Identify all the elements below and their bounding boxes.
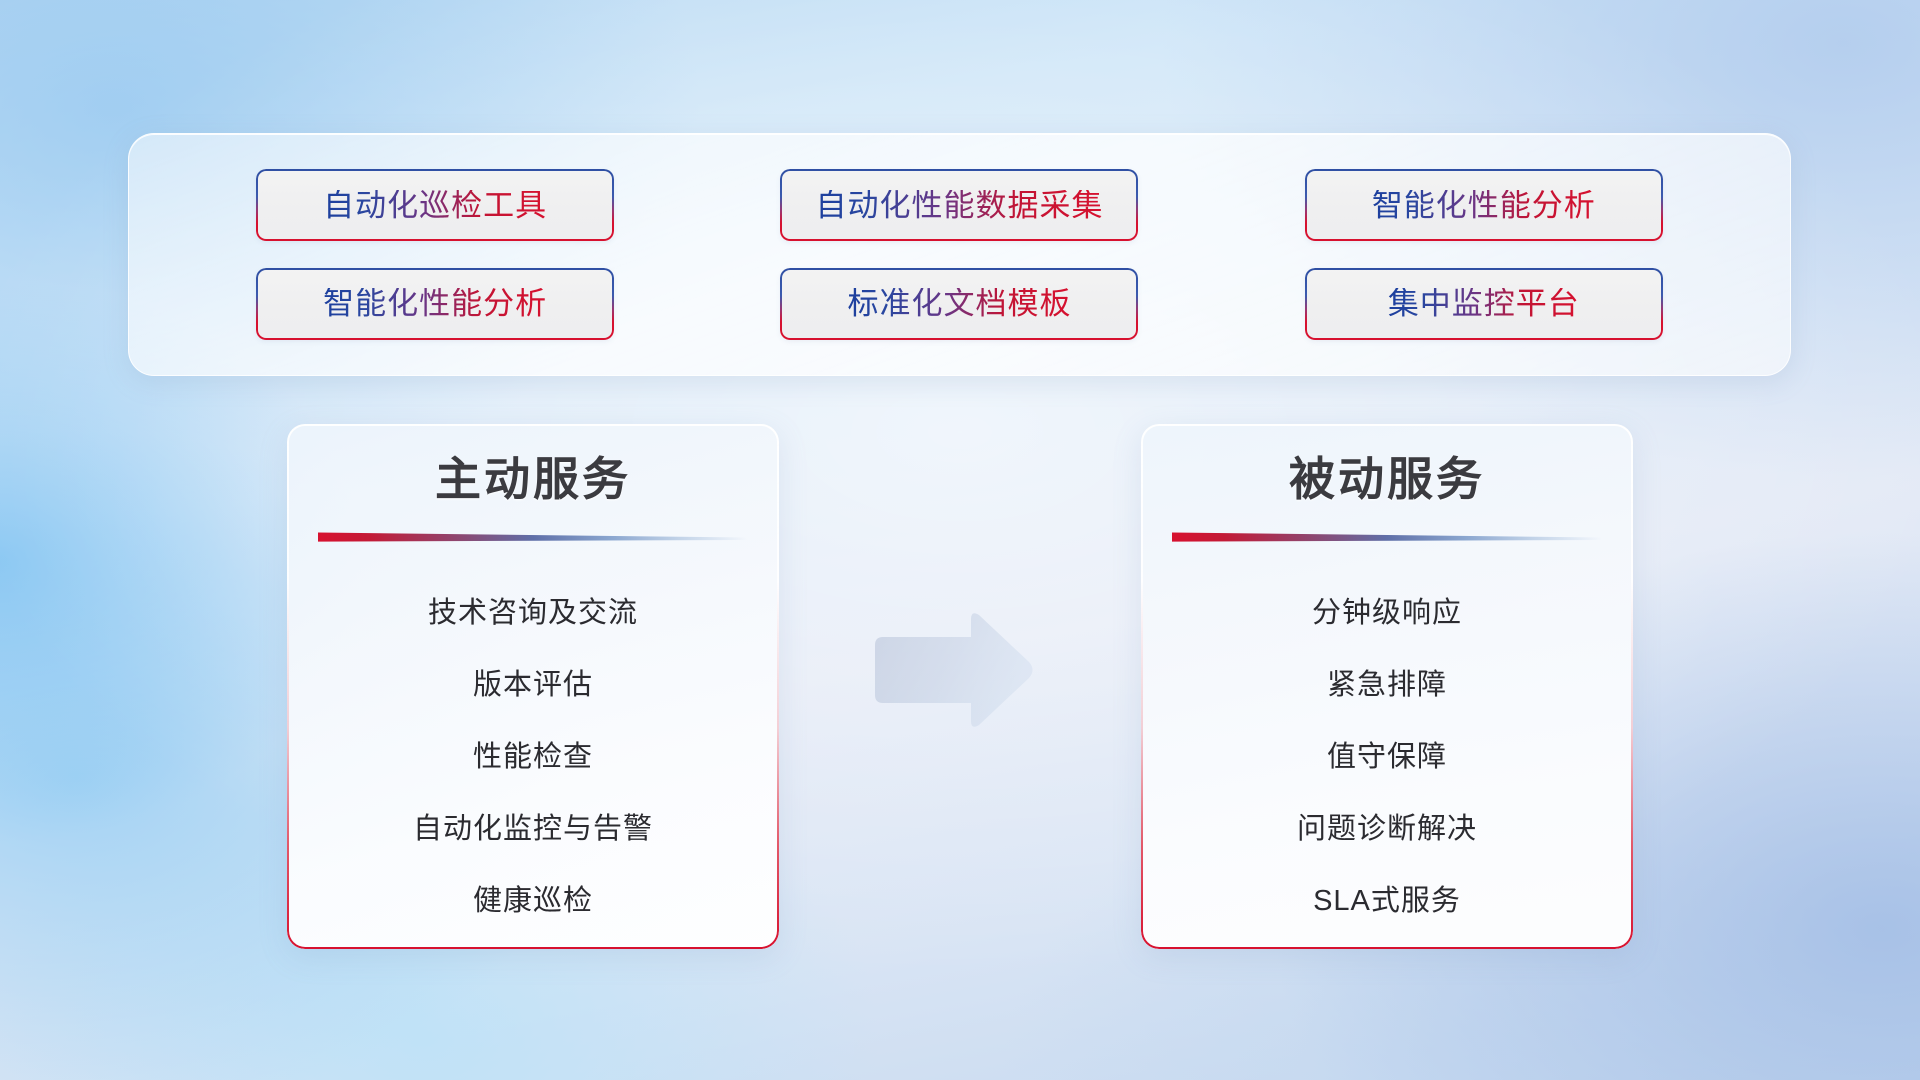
- capability-tag-2[interactable]: 自动化性能数据采集: [780, 169, 1138, 241]
- title-divider: [1172, 531, 1602, 543]
- capability-tag-4[interactable]: 智能化性能分析: [256, 268, 614, 340]
- service-card-proactive[interactable]: 主动服务 技术咨询及交流 版本评估 性能检查 自动化监控与告警 健康巡检: [287, 424, 779, 949]
- capability-tag-label: 标准化文档模板: [847, 288, 1071, 319]
- service-list-item: 技术咨询及交流: [428, 577, 638, 649]
- capability-tag-label: 智能化性能分析: [1372, 190, 1596, 221]
- service-list-item: 分钟级响应: [1312, 577, 1462, 649]
- service-item-list: 技术咨询及交流 版本评估 性能检查 自动化监控与告警 健康巡检: [287, 577, 779, 937]
- capability-tag-6[interactable]: 集中监控平台: [1305, 268, 1663, 340]
- capability-tag-label: 自动化巡检工具: [323, 190, 547, 221]
- capability-tag-label: 集中监控平台: [1388, 288, 1580, 319]
- service-list-item: 性能检查: [473, 721, 593, 793]
- service-list-item: 健康巡检: [473, 865, 593, 937]
- service-list-item: 紧急排障: [1327, 649, 1447, 721]
- service-list-item: 版本评估: [473, 649, 593, 721]
- capability-tag-1[interactable]: 自动化巡检工具: [256, 169, 614, 241]
- capability-tag-5[interactable]: 标准化文档模板: [780, 268, 1138, 340]
- capability-tag-3[interactable]: 智能化性能分析: [1305, 169, 1663, 241]
- service-card-title: 主动服务: [287, 454, 779, 505]
- service-list-item: SLA式服务: [1313, 865, 1461, 937]
- right-arrow-icon: [867, 609, 1037, 731]
- title-divider: [318, 531, 748, 543]
- service-list-item: 值守保障: [1327, 721, 1447, 793]
- capability-tag-label: 智能化性能分析: [323, 288, 547, 319]
- service-list-item: 问题诊断解决: [1297, 793, 1477, 865]
- service-card-reactive[interactable]: 被动服务 分钟级响应 紧急排障 值守保障 问题诊断解决 SLA式服务: [1141, 424, 1633, 949]
- capability-tags-panel: 自动化巡检工具 自动化性能数据采集 智能化性能分析 智能化性能分析 标准化文档模…: [128, 133, 1791, 376]
- capability-tag-label: 自动化性能数据采集: [815, 190, 1103, 221]
- slide-canvas: 自动化巡检工具 自动化性能数据采集 智能化性能分析 智能化性能分析 标准化文档模…: [0, 0, 1920, 1080]
- service-item-list: 分钟级响应 紧急排障 值守保障 问题诊断解决 SLA式服务: [1141, 577, 1633, 937]
- service-list-item: 自动化监控与告警: [413, 793, 653, 865]
- service-card-title: 被动服务: [1141, 454, 1633, 505]
